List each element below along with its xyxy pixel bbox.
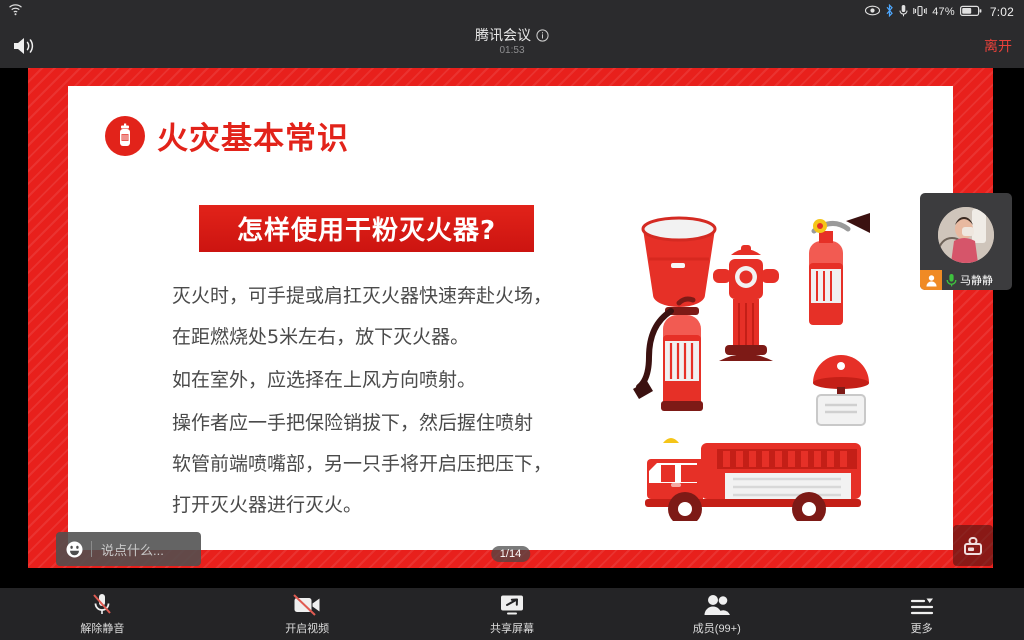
avatar xyxy=(938,207,994,263)
self-video-name-bar: 马静静 xyxy=(920,270,1012,290)
info-icon[interactable] xyxy=(536,29,549,42)
slide-body-text: 灭火时，可手提或肩扛灭火器快速奔赴火场， 在距燃烧处5米左右，放下灭火器。 如在… xyxy=(172,276,592,526)
slide-body-line: 如在室外，应选择在上风方向喷射。 xyxy=(172,360,592,401)
meeting-title-row: 腾讯会议 xyxy=(475,26,549,44)
page-indicator: 1/14 xyxy=(491,546,530,562)
slide-body-line: 打开灭火器进行灭火。 xyxy=(172,485,592,526)
toolbar-label: 共享屏幕 xyxy=(490,620,534,636)
microphone-icon xyxy=(899,4,908,20)
slide-title-row: 火灾基本常识 xyxy=(105,113,349,158)
slide-body-line: 在距燃烧处5米左右，放下灭火器。 xyxy=(172,317,592,358)
slide-body-line: 操作者应一手把保险销拔下，然后握住喷射 xyxy=(172,403,592,444)
fire-bucket xyxy=(643,218,715,307)
toolbar-label: 解除静音 xyxy=(80,620,124,636)
meeting-toolbar: 解除静音 开启视频 共享屏幕 xyxy=(0,588,1024,640)
fire-safety-illustration xyxy=(613,211,878,521)
toolbar-label: 成员(99+) xyxy=(693,620,741,636)
meeting-header: 腾讯会议 01:53 离开 xyxy=(0,24,1024,68)
fire-truck xyxy=(645,438,861,521)
slide-title: 火灾基本常识 xyxy=(157,113,349,158)
presentation-slide[interactable]: 火灾基本常识 怎样使用干粉灭火器? 灭火时，可手提或肩扛灭火器快速奔赴火场， 在… xyxy=(28,68,993,568)
lock-icon[interactable] xyxy=(953,525,993,566)
shared-content-stage[interactable]: 火灾基本常识 怎样使用干粉灭火器? 灭火时，可手提或肩扛灭火器快速奔赴火场， 在… xyxy=(0,68,1024,568)
slide-body-line: 灭火时，可手提或肩扛灭火器快速奔赴火场， xyxy=(172,276,592,317)
chat-divider xyxy=(91,541,92,557)
self-video-name: 马静静 xyxy=(960,272,993,288)
fire-hydrant xyxy=(713,245,779,361)
emoji-icon[interactable] xyxy=(64,539,84,559)
meeting-timer: 01:53 xyxy=(475,45,549,56)
toolbar-item-participants[interactable]: 成员(99+) xyxy=(614,588,819,640)
self-video-thumbnail[interactable]: 马静静 xyxy=(920,193,1012,290)
microphone-muted-icon xyxy=(90,592,114,616)
fire-extinguisher-spray xyxy=(809,213,870,325)
fire-alarm-bell xyxy=(813,355,869,425)
toolbar-label: 开启视频 xyxy=(285,620,329,636)
slide-body-line: 软管前端喷嘴部，另一只手将开启压把压下， xyxy=(172,444,592,485)
status-bar-left xyxy=(8,3,23,21)
toolbar-label: 更多 xyxy=(911,620,933,636)
share-screen-icon xyxy=(499,592,525,616)
slide-subtitle: 怎样使用干粉灭火器? xyxy=(237,210,496,247)
fire-extinguisher xyxy=(633,299,703,411)
host-badge-icon xyxy=(920,270,942,290)
slide-subtitle-banner: 怎样使用干粉灭火器? xyxy=(199,205,534,252)
bluetooth-icon xyxy=(885,4,894,20)
speaker-icon[interactable] xyxy=(10,32,38,60)
battery-icon xyxy=(960,5,982,20)
wifi-icon xyxy=(8,3,23,21)
leave-meeting-button[interactable]: 离开 xyxy=(984,36,1012,56)
meeting-title-block: 腾讯会议 01:53 xyxy=(475,26,549,56)
vibrate-icon xyxy=(913,5,927,20)
microphone-on-icon xyxy=(942,273,960,287)
participants-icon xyxy=(703,592,731,616)
system-status-bar: 47% 7:02 xyxy=(0,0,1024,24)
chat-input-placeholder[interactable]: 说点什么... xyxy=(101,540,164,559)
toolbar-item-share-screen[interactable]: 共享屏幕 xyxy=(410,588,615,640)
toolbar-item-start-video[interactable]: 开启视频 xyxy=(205,588,410,640)
more-menu-icon xyxy=(909,592,935,616)
chat-input-bar[interactable]: 说点什么... xyxy=(56,532,201,566)
meeting-screen: 47% 7:02 腾讯会议 01:53 离开 xyxy=(0,0,1024,640)
battery-percent: 47% xyxy=(932,6,955,18)
meeting-title: 腾讯会议 xyxy=(475,26,531,44)
toolbar-item-more[interactable]: 更多 xyxy=(819,588,1024,640)
video-off-icon xyxy=(293,592,321,616)
fire-extinguisher-icon xyxy=(105,116,145,156)
eye-icon xyxy=(865,5,880,19)
status-bar-right: 47% 7:02 xyxy=(865,4,1014,20)
clock-time: 7:02 xyxy=(990,5,1014,19)
toolbar-item-unmute[interactable]: 解除静音 xyxy=(0,588,205,640)
slide-content-area: 火灾基本常识 怎样使用干粉灭火器? 灭火时，可手提或肩扛灭火器快速奔赴火场， 在… xyxy=(68,86,953,550)
